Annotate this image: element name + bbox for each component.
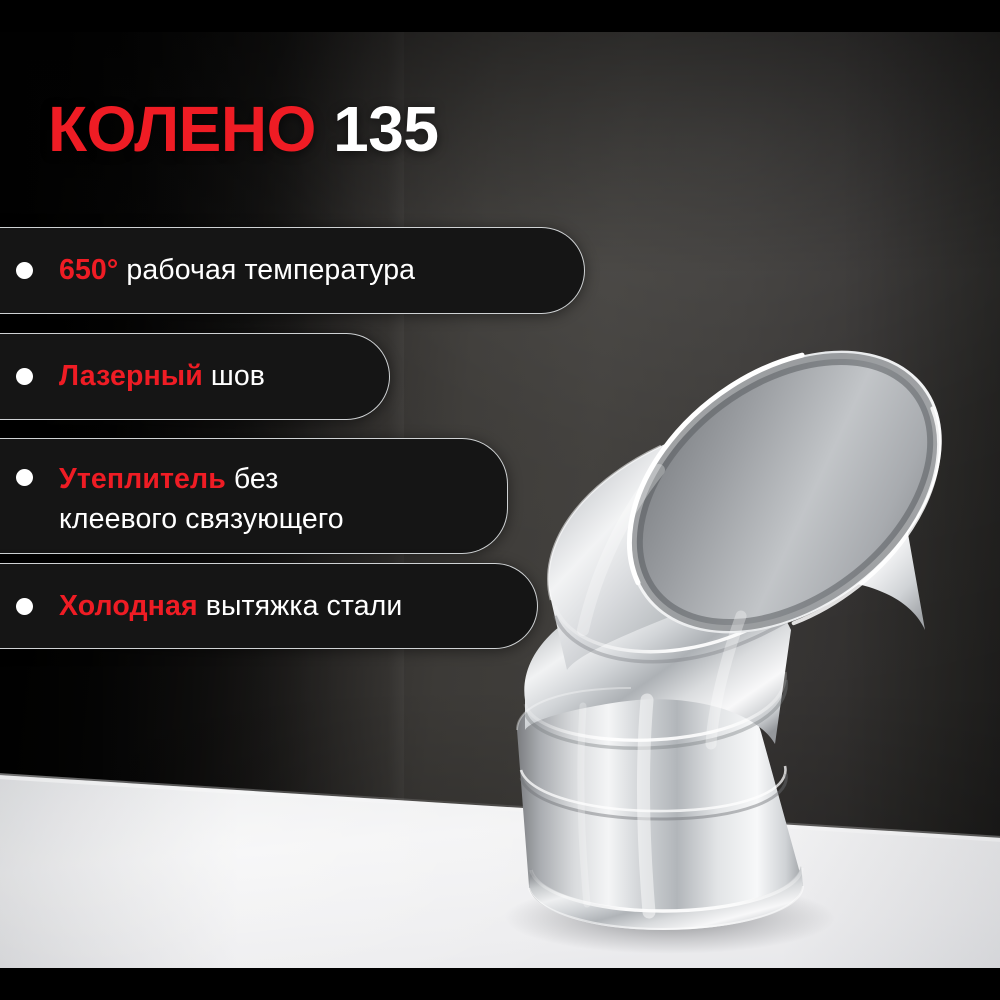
- page-title: КОЛЕНО 135: [48, 97, 438, 161]
- letterbox-bar-top: [0, 0, 1000, 32]
- bullet-dot-icon: [16, 262, 33, 279]
- feature-pill-2: Лазерный шов: [0, 333, 390, 420]
- feature-rest-2: шов: [203, 360, 265, 392]
- feature-highlight-3: Утеплитель: [59, 463, 226, 495]
- bullet-dot-icon: [16, 598, 33, 615]
- title-value: 135: [333, 93, 438, 165]
- feature-text-2: Лазерный шов: [59, 356, 305, 396]
- feature-pill-3: Утеплитель без клеевого связующего: [0, 438, 508, 554]
- product-banner: КОЛЕНО 135 650° рабочая температура Лазе…: [0, 0, 1000, 1000]
- feature-highlight-4: Холодная: [59, 590, 198, 622]
- bullet-dot-icon: [16, 368, 33, 385]
- bullet-dot-icon: [16, 469, 33, 486]
- feature-rest-4: вытяжка стали: [198, 590, 403, 622]
- feature-text-4: Холодная вытяжка стали: [59, 586, 442, 626]
- feature-text-1: 650° рабочая температура: [59, 250, 455, 290]
- title-highlight: КОЛЕНО: [48, 93, 316, 165]
- feature-pill-1: 650° рабочая температура: [0, 227, 585, 314]
- feature-pill-4: Холодная вытяжка стали: [0, 563, 538, 649]
- letterbox-bar-bottom: [0, 968, 1000, 1000]
- feature-rest-1: рабочая температура: [118, 254, 415, 286]
- feature-highlight-1: 650°: [59, 254, 118, 286]
- feature-highlight-2: Лазерный: [59, 360, 203, 392]
- feature-text-3: Утеплитель без клеевого связующего: [59, 439, 384, 540]
